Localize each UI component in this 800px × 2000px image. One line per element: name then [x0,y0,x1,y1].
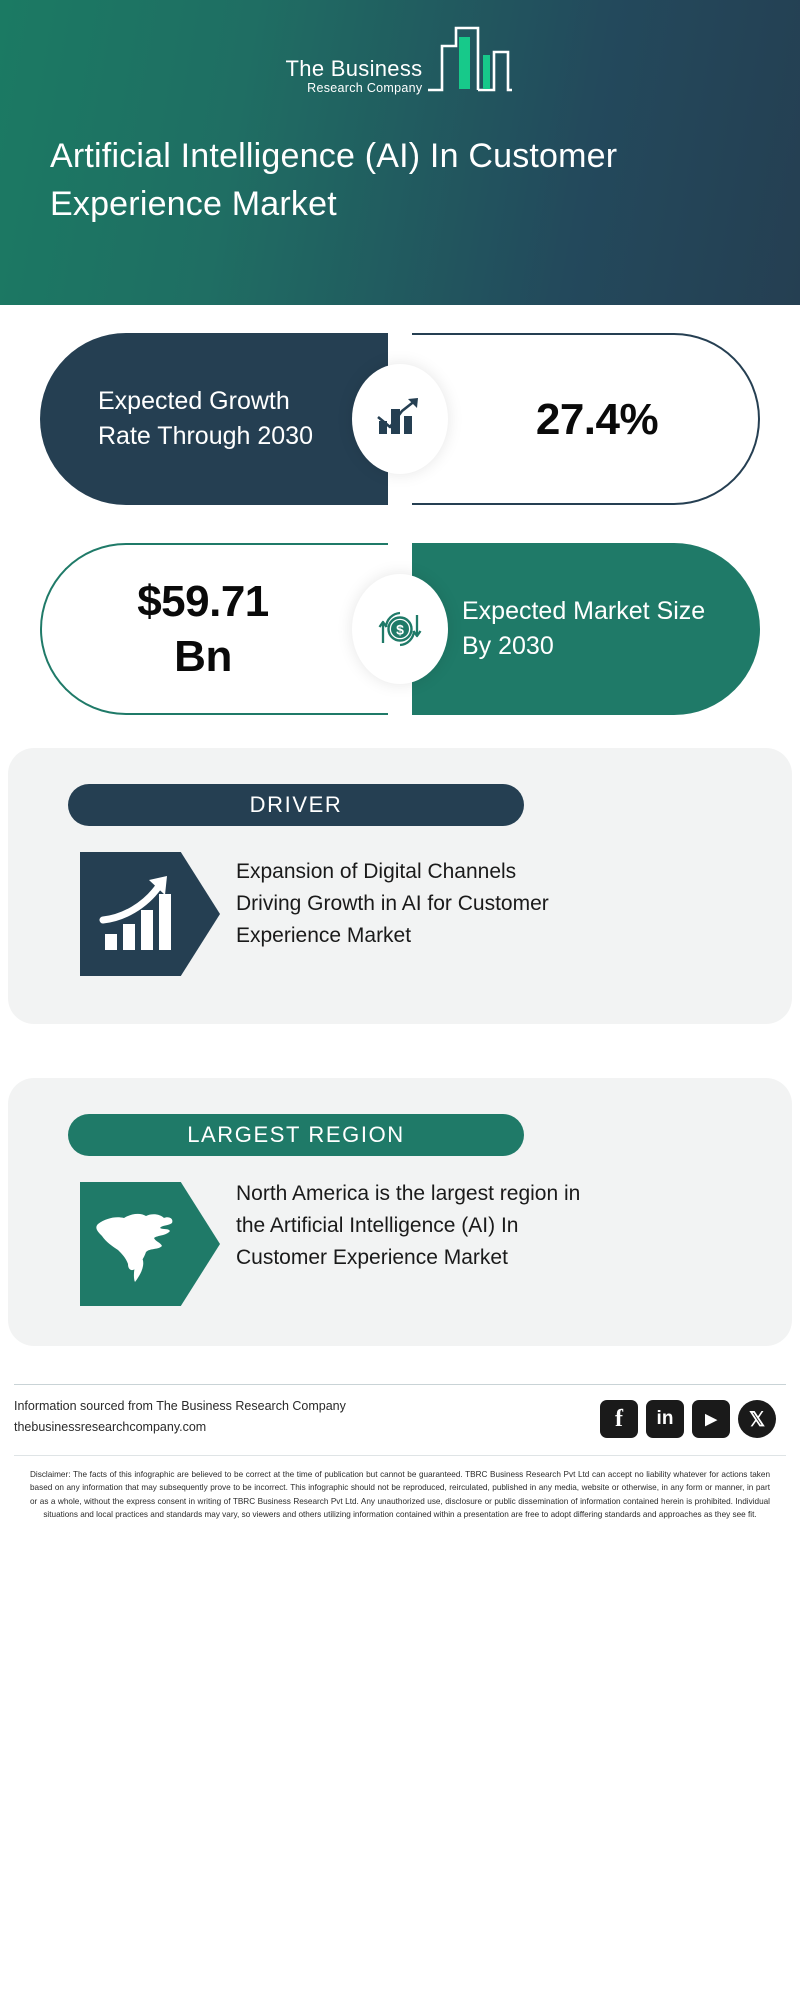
infographic-page: The Business Research Company Artificial… [0,0,800,2000]
stat-value: $59.71 Bn [78,543,328,715]
stat-card-growth-rate: Expected Growth Rate Through 2030 27.4% [40,333,760,505]
company-logo: The Business Research Company [0,22,800,100]
youtube-glyph: ▶ [705,1410,717,1428]
x-twitter-icon[interactable]: 𝕏 [738,1400,776,1438]
bar-chart-growth-icon [352,364,448,474]
dollar-circulation-icon: $ [352,574,448,684]
logo-bars-icon [426,22,514,99]
logo-line-1: The Business [286,57,423,80]
driver-pill-label: DRIVER [68,784,524,826]
header-banner: The Business Research Company Artificial… [0,0,800,305]
stat-value: 27.4% [472,333,722,505]
largest-region-body-text: North America is the largest region in t… [236,1178,584,1274]
north-america-map-icon [80,1182,220,1306]
driver-body-text: Expansion of Digital Channels Driving Gr… [236,856,584,952]
linkedin-glyph: in [657,1408,674,1430]
facebook-icon[interactable]: f [600,1400,638,1438]
logo-line-2: Research Company [307,80,422,96]
facebook-glyph: f [615,1406,623,1433]
source-line-1: Information sourced from The Business Re… [14,1396,346,1417]
source-attribution: Information sourced from The Business Re… [14,1396,346,1437]
stat-card-market-size: $59.71 Bn $ Expected Market Size By 2030 [40,543,760,715]
svg-text:$: $ [396,622,404,638]
disclaimer-text: Disclaimer: The facts of this infographi… [30,1468,770,1521]
page-title: Artificial Intelligence (AI) In Customer… [50,132,750,229]
source-line-2[interactable]: thebusinessresearchcompany.com [14,1417,346,1438]
stat-label: Expected Market Size By 2030 [462,543,712,715]
youtube-icon[interactable]: ▶ [692,1400,730,1438]
stat-label: Expected Growth Rate Through 2030 [98,333,348,505]
growth-chart-arrow-icon [80,852,220,976]
x-twitter-glyph: 𝕏 [749,1407,765,1432]
linkedin-icon[interactable]: in [646,1400,684,1438]
largest-region-section: LARGEST REGION North America is the larg… [8,1078,792,1346]
largest-region-pill-label: LARGEST REGION [68,1114,524,1156]
stat-value-line-1: $59.71 [137,574,269,629]
disclaimer-divider [14,1455,786,1456]
footer-divider [14,1384,786,1385]
stat-value-line-2: Bn [174,629,232,684]
social-links: f in ▶ 𝕏 [600,1400,776,1438]
driver-section: DRIVER Expansion of Digital Channels Dri… [8,748,792,1024]
